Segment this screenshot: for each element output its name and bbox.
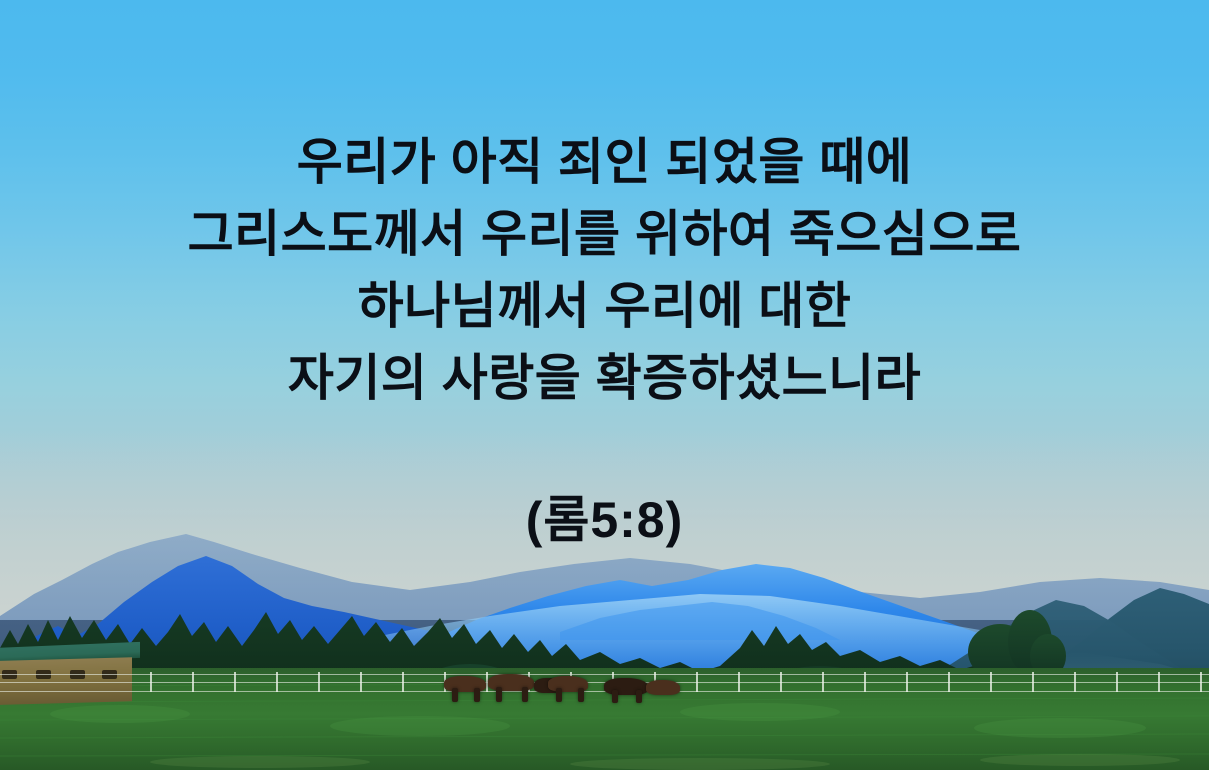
- verse-line-3: 하나님께서 우리에 대한: [0, 270, 1209, 342]
- horse-leg: [578, 688, 584, 702]
- horse-leg: [612, 690, 618, 703]
- horse-leg: [636, 690, 642, 703]
- fence-post: [780, 672, 782, 692]
- fence-post: [1074, 672, 1076, 692]
- fence-post: [696, 672, 698, 692]
- fence-post: [1032, 672, 1034, 692]
- horse: [646, 680, 680, 695]
- fence-post: [402, 672, 404, 692]
- fence-post: [318, 672, 320, 692]
- verse-text: 우리가 아직 죄인 되었을 때에 그리스도께서 우리를 위하여 죽으심으로 하나…: [0, 126, 1209, 414]
- horse-leg: [522, 687, 528, 702]
- fence-wire: [0, 674, 1209, 675]
- fence-post: [360, 672, 362, 692]
- fence-post: [150, 672, 152, 692]
- verse-reference: (롬5:8): [0, 490, 1209, 550]
- horse-leg: [452, 688, 458, 702]
- verse-line-2: 그리스도께서 우리를 위하여 죽으심으로: [0, 198, 1209, 270]
- verse-line-4: 자기의 사랑을 확증하셨느니라: [0, 342, 1209, 414]
- fence-post: [738, 672, 740, 692]
- horse-leg: [556, 688, 562, 702]
- fence-post: [234, 672, 236, 692]
- fence-post: [948, 672, 950, 692]
- fence-post: [990, 672, 992, 692]
- verse-line-1: 우리가 아직 죄인 되었을 때에: [0, 126, 1209, 198]
- fence-post: [276, 672, 278, 692]
- fence-post: [822, 672, 824, 692]
- fence-post: [1116, 672, 1118, 692]
- fence-post: [864, 672, 866, 692]
- horse-leg: [474, 688, 480, 702]
- fence-post: [906, 672, 908, 692]
- scripture-image: 우리가 아직 죄인 되었을 때에 그리스도께서 우리를 위하여 죽으심으로 하나…: [0, 0, 1209, 770]
- fence-post: [1158, 672, 1160, 692]
- horse-leg: [496, 687, 502, 702]
- fence-post: [192, 672, 194, 692]
- fence-post: [1200, 672, 1202, 692]
